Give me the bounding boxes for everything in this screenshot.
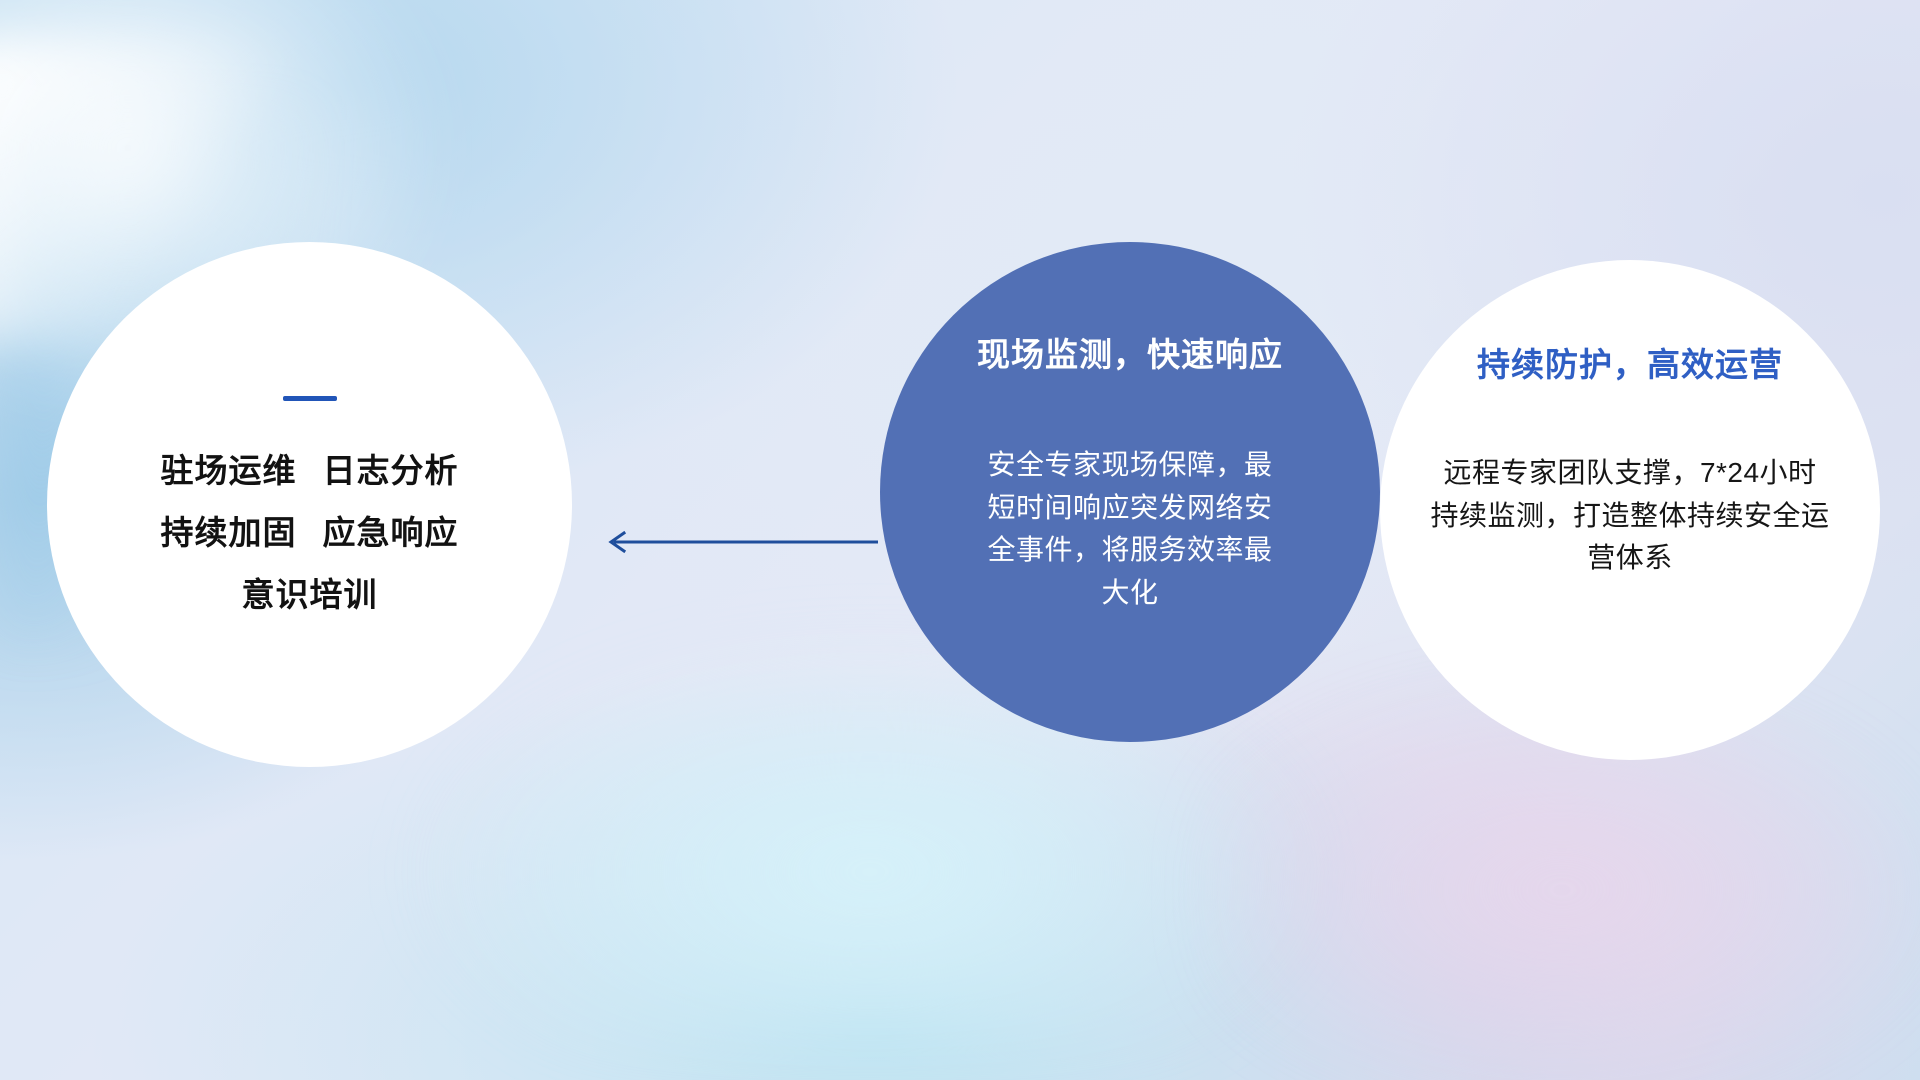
right-circle-body: 远程专家团队支撑，7*24小时持续监测，打造整体持续安全运营体系 [1430,452,1830,580]
infographic-slide: 驻场运维日志分析 持续加固应急响应 意识培训 现场监测，快速响应 安全专家现场保… [0,0,1920,1080]
right-circle-title: 持续防护，高效运营 [1477,338,1783,386]
capability-row: 持续加固应急响应 [161,515,459,551]
right-operations-circle[interactable]: 持续防护，高效运营 远程专家团队支撑，7*24小时持续监测，打造整体持续安全运营… [1380,260,1880,760]
capability-tag: 持续加固 [161,514,297,551]
capability-row: 驻场运维日志分析 [161,453,459,489]
capability-tag: 日志分析 [323,452,459,489]
middle-circle-title: 现场监测，快速响应 [977,328,1283,376]
horizontal-rule-icon [283,396,337,401]
capability-row: 意识培训 [242,577,378,613]
arrow-left-icon [600,527,880,557]
middle-circle-body: 安全专家现场保障，最短时间响应突发网络安全事件，将服务效率最大化 [975,444,1285,614]
capability-tag: 意识培训 [242,576,378,613]
middle-onsite-circle[interactable]: 现场监测，快速响应 安全专家现场保障，最短时间响应突发网络安全事件，将服务效率最… [880,242,1380,742]
left-capability-circle[interactable]: 驻场运维日志分析 持续加固应急响应 意识培训 [47,242,572,767]
capability-list: 驻场运维日志分析 持续加固应急响应 意识培训 [161,453,459,614]
capability-tag: 应急响应 [323,514,459,551]
capability-tag: 驻场运维 [161,452,297,489]
